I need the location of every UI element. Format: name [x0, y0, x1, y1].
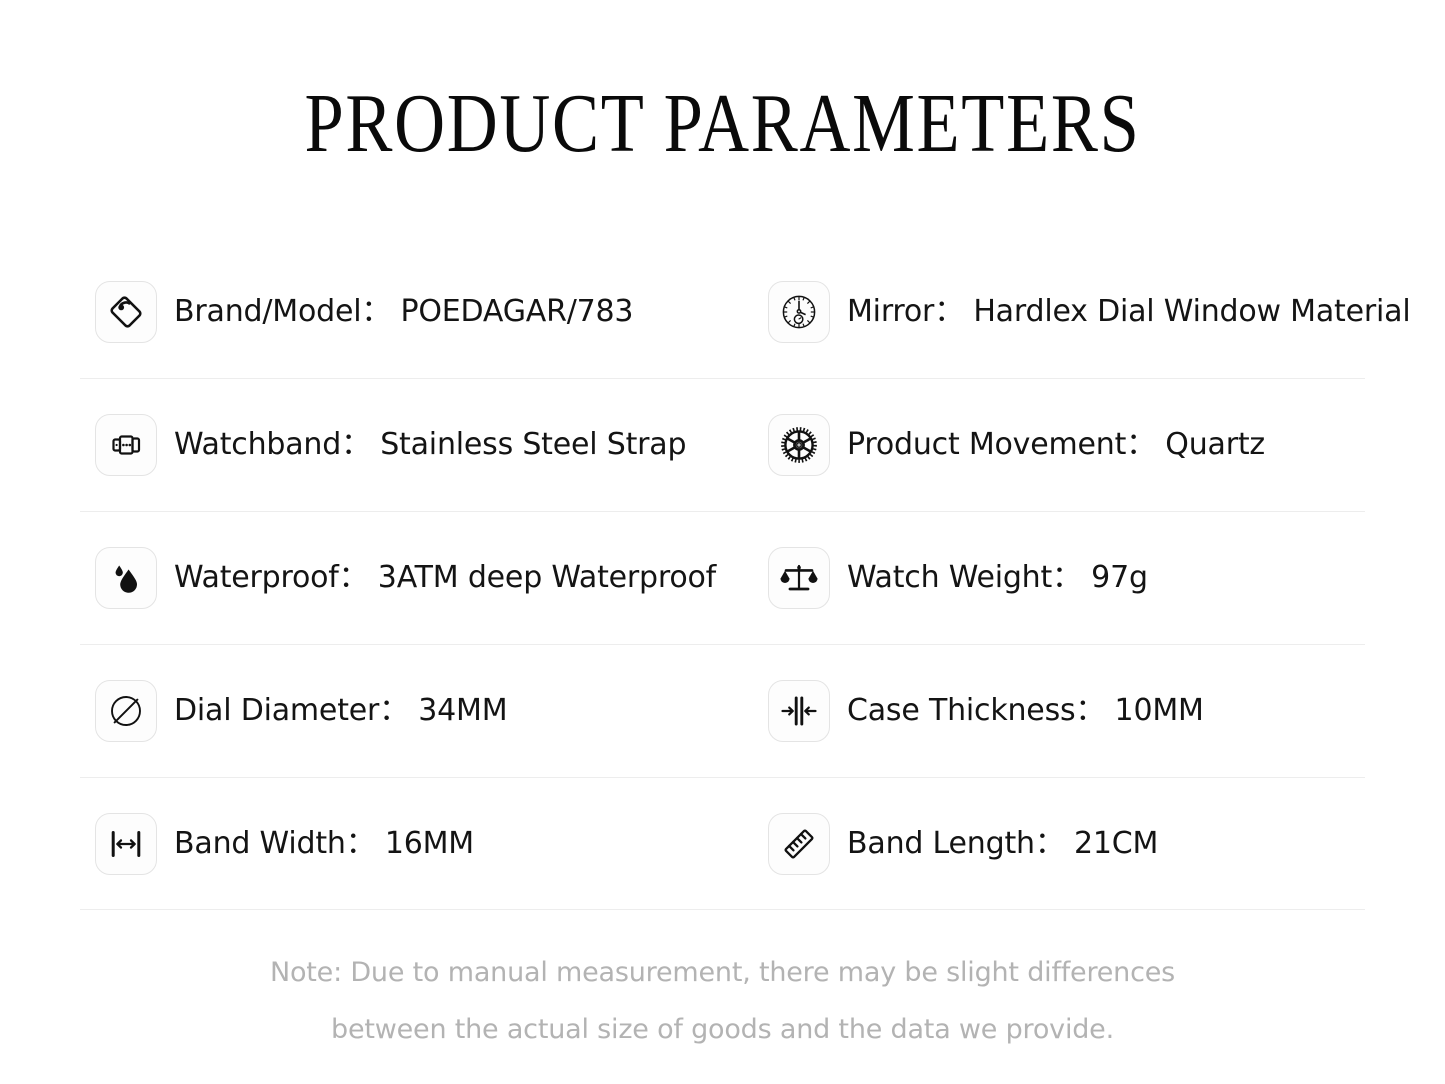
- spec-item-band-length: Band Length： 21CM: [760, 813, 1365, 875]
- spec-item-mirror: Mirror： Hardlex Dial Window Material: [760, 281, 1410, 343]
- product-parameters-page: PRODUCT PARAMETERS Brand/Model： POEDAGAR…: [0, 0, 1445, 1084]
- balance-scale-icon: [768, 547, 830, 609]
- spec-item-label: Watch Weight： 97g: [847, 559, 1148, 597]
- spec-item-label: Watchband： Stainless Steel Strap: [174, 426, 686, 464]
- spec-item-label: Brand/Model： POEDAGAR/783: [174, 293, 633, 331]
- spec-row: Waterproof： 3ATM deep Waterproof W: [80, 511, 1365, 644]
- width-arrow-icon: [95, 813, 157, 875]
- spec-item-product-movement: Product Movement： Quartz: [760, 414, 1365, 476]
- spec-item-waterproof: Waterproof： 3ATM deep Waterproof: [80, 547, 760, 609]
- spec-row: Brand/Model： POEDAGAR/783: [80, 245, 1365, 378]
- page-title: PRODUCT PARAMETERS: [116, 78, 1330, 170]
- spec-item-label: Mirror： Hardlex Dial Window Material: [847, 293, 1410, 331]
- spec-item-label: Band Length： 21CM: [847, 825, 1158, 863]
- note-line-2: between the actual size of goods and the…: [0, 1001, 1445, 1058]
- spec-item-dial-diameter: Dial Diameter： 34MM: [80, 680, 760, 742]
- measurement-note: Note: Due to manual measurement, there m…: [0, 944, 1445, 1058]
- spec-item-watch-weight: Watch Weight： 97g: [760, 547, 1365, 609]
- gear-icon: [768, 414, 830, 476]
- spec-row: Band Width： 16MM Band Length： 21CM: [80, 777, 1365, 910]
- price-tag-icon: [95, 281, 157, 343]
- thickness-arrows-icon: [768, 680, 830, 742]
- watch-clasp-icon: [95, 414, 157, 476]
- spec-row: Watchband： Stainless Steel Strap: [80, 378, 1365, 511]
- spec-item-label: Dial Diameter： 34MM: [174, 692, 507, 730]
- spec-item-label: Band Width： 16MM: [174, 825, 474, 863]
- spec-item-band-width: Band Width： 16MM: [80, 813, 760, 875]
- spec-item-case-thickness: Case Thickness： 10MM: [760, 680, 1365, 742]
- spec-item-label: Product Movement： Quartz: [847, 426, 1265, 464]
- spec-item-label: Case Thickness： 10MM: [847, 692, 1204, 730]
- water-drop-icon: [95, 547, 157, 609]
- diameter-icon: [95, 680, 157, 742]
- spec-item-label: Waterproof： 3ATM deep Waterproof: [174, 559, 716, 597]
- note-line-1: Note: Due to manual measurement, there m…: [0, 944, 1445, 1001]
- spec-item-watchband: Watchband： Stainless Steel Strap: [80, 414, 760, 476]
- spec-row: Dial Diameter： 34MM Case Thickness： 10MM: [80, 644, 1365, 777]
- ruler-icon: [768, 813, 830, 875]
- spec-item-brand-model: Brand/Model： POEDAGAR/783: [80, 281, 760, 343]
- spec-table: Brand/Model： POEDAGAR/783: [80, 245, 1365, 910]
- watch-dial-icon: [768, 281, 830, 343]
